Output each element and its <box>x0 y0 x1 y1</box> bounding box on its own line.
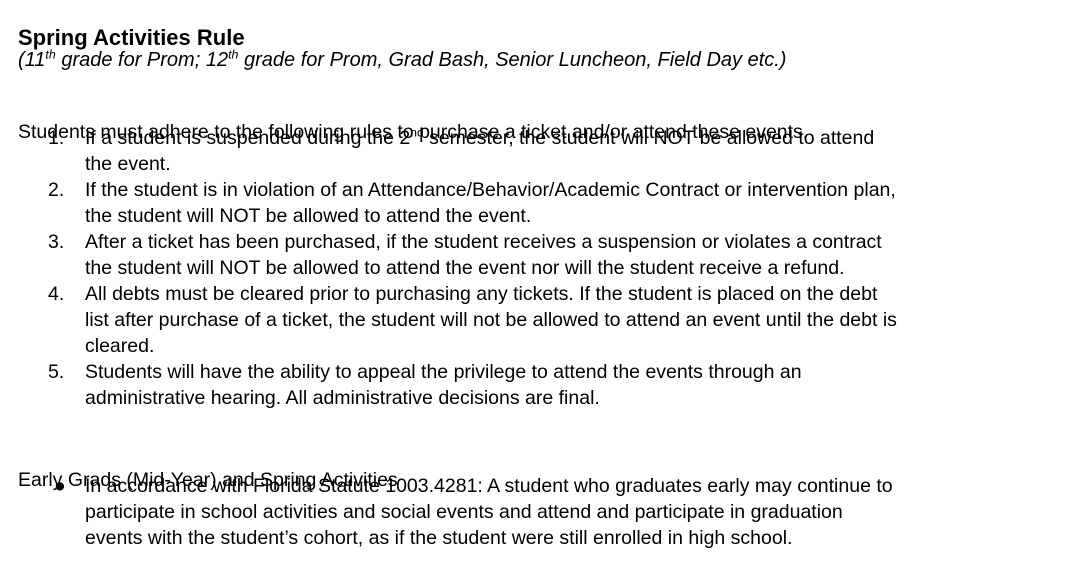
text-line: cleared. <box>85 333 1058 359</box>
text-line: events with the student’s cohort, as if … <box>85 525 1058 551</box>
rules-list: 1. If a student is suspended during the … <box>18 125 1058 411</box>
text-line: Students will have the ability to appeal… <box>85 359 1058 385</box>
rule1-line1-part-b: semester, the student will NOT be allowe… <box>424 127 875 149</box>
text-line: administrative hearing. All administrati… <box>85 385 1058 411</box>
list-item: 3. After a ticket has been purchased, if… <box>18 229 1058 281</box>
list-item: ● In accordance with Florida Statute 100… <box>18 473 1058 551</box>
list-item: 4. All debts must be cleared prior to pu… <box>18 281 1058 359</box>
text-line: the student will NOT be allowed to atten… <box>85 255 1058 281</box>
text-line: list after purchase of a ticket, the stu… <box>85 307 1058 333</box>
text-line: the event. <box>85 151 1058 177</box>
text-line: In accordance with Florida Statute 1003.… <box>85 473 1058 499</box>
list-item-text: In accordance with Florida Statute 1003.… <box>85 473 1058 551</box>
list-item-text: Students will have the ability to appeal… <box>85 359 1058 411</box>
list-item-text: If the student is in violation of an Att… <box>85 177 1058 229</box>
list-marker: 5. <box>48 359 78 385</box>
rule1-superscript: nd <box>410 126 423 140</box>
subtitle-part-1: (11 <box>18 49 45 71</box>
text-line: If the student is in violation of an Att… <box>85 177 1058 203</box>
page-subtitle: (11th grade for Prom; 12th grade for Pro… <box>18 47 786 73</box>
list-item: 5. Students will have the ability to app… <box>18 359 1058 411</box>
list-item-text: If a student is suspended during the 2nd… <box>85 125 1058 177</box>
list-marker: 1. <box>48 125 78 151</box>
text-line: the student will NOT be allowed to atten… <box>85 203 1058 229</box>
text-line: All debts must be cleared prior to purch… <box>85 281 1058 307</box>
text-line: After a ticket has been purchased, if th… <box>85 229 1058 255</box>
subtitle-superscript-1: th <box>45 47 55 61</box>
text-line: If a student is suspended during the 2nd… <box>85 125 1058 151</box>
rule1-line1-part-a: If a student is suspended during the 2 <box>85 127 410 149</box>
list-item: 1. If a student is suspended during the … <box>18 125 1058 177</box>
list-marker: 4. <box>48 281 78 307</box>
document-page: Spring Activities Rule (11th grade for P… <box>0 0 1065 576</box>
subtitle-part-2: grade for Prom; 12 <box>56 49 228 71</box>
list-marker: 3. <box>48 229 78 255</box>
subtitle-part-3: grade for Prom, Grad Bash, Senior Lunche… <box>238 49 786 71</box>
bullet-point-icon: ● <box>54 473 66 499</box>
subtitle-superscript-2: th <box>228 47 238 61</box>
list-item-text: After a ticket has been purchased, if th… <box>85 229 1058 281</box>
list-marker: 2. <box>48 177 78 203</box>
list-item: 2. If the student is in violation of an … <box>18 177 1058 229</box>
early-grads-bullet-list: ● In accordance with Florida Statute 100… <box>18 473 1058 551</box>
text-line: participate in school activities and soc… <box>85 499 1058 525</box>
list-item-text: All debts must be cleared prior to purch… <box>85 281 1058 359</box>
